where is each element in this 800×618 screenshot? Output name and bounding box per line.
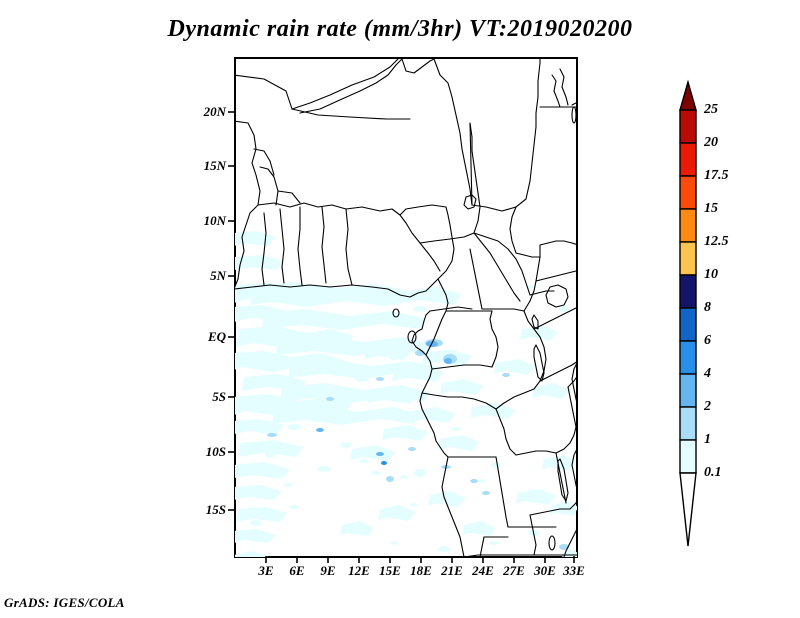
colorbar-label-12p5: 12.5	[704, 234, 729, 250]
x-axis-label-30E: 30E	[534, 563, 556, 579]
colorbar-graphic	[666, 78, 786, 554]
x-axis-label-33E: 33E	[563, 563, 585, 579]
y-axis-label-5S: 5S	[178, 389, 226, 405]
colorbar-label-25: 25	[704, 102, 718, 118]
colorbar: 25 20 17.5 15 12.5 10 8 6 4 2 1 0.1	[666, 78, 786, 554]
colorbar-label-6: 6	[704, 333, 711, 349]
precip-band-0p1-1	[234, 231, 578, 558]
x-axis-label-27E: 27E	[503, 563, 525, 579]
colorbar-band-2-4	[680, 374, 696, 407]
y-axis-label-5N: 5N	[178, 268, 226, 284]
colorbar-cap-top	[680, 82, 696, 110]
colorbar-band-1-2	[680, 407, 696, 440]
colorbar-label-15: 15	[704, 201, 718, 217]
map-borders	[234, 57, 578, 557]
x-axis-label-9E: 9E	[320, 563, 335, 579]
colorbar-label-4: 4	[704, 366, 711, 382]
y-axis-label-EQ: EQ	[178, 329, 226, 345]
x-axis-label-6E: 6E	[289, 563, 304, 579]
colorbar-label-0p1: 0.1	[704, 465, 722, 481]
y-axis-label-20N: 20N	[178, 104, 226, 120]
colorbar-band-17p5-20	[680, 143, 696, 176]
y-axis-label-15S: 15S	[178, 502, 226, 518]
colorbar-label-8: 8	[704, 300, 711, 316]
grads-plot-canvas: Dynamic rain rate (mm/3hr) VT:2019020200	[0, 0, 800, 618]
y-tick-marks	[226, 57, 236, 558]
page-title: Dynamic rain rate (mm/3hr) VT:2019020200	[0, 16, 800, 43]
precip-band-4-6	[381, 461, 387, 465]
colorbar-band-20-25	[680, 110, 696, 143]
colorbar-label-10: 10	[704, 267, 718, 283]
colorbar-band-0p1-1	[680, 440, 696, 473]
x-axis-label-3E: 3E	[258, 563, 273, 579]
y-axis-label-15N: 15N	[178, 158, 226, 174]
colorbar-band-10-12p5	[680, 242, 696, 275]
colorbar-cap-bottom	[680, 473, 696, 546]
colorbar-band-8-10	[680, 275, 696, 308]
x-axis-label-21E: 21E	[441, 563, 463, 579]
colorbar-label-1: 1	[704, 432, 711, 448]
x-axis-label-18E: 18E	[410, 563, 432, 579]
colorbar-band-15-17p5	[680, 176, 696, 209]
map-graphics	[234, 57, 578, 558]
colorbar-label-20: 20	[704, 135, 718, 151]
x-axis-label-12E: 12E	[348, 563, 370, 579]
x-tick-marks	[234, 556, 578, 566]
colorbar-band-4-6	[680, 341, 696, 374]
y-axis-label-10N: 10N	[178, 213, 226, 229]
colorbar-label-17p5: 17.5	[704, 168, 729, 184]
colorbar-label-2: 2	[704, 399, 711, 415]
map-panel	[234, 57, 578, 558]
grads-attribution: GrADS: IGES/COLA	[4, 595, 125, 611]
x-axis-label-24E: 24E	[472, 563, 494, 579]
y-axis-label-10S: 10S	[178, 444, 226, 460]
colorbar-band-6-8	[680, 308, 696, 341]
colorbar-band-12p5-15	[680, 209, 696, 242]
x-axis-label-15E: 15E	[379, 563, 401, 579]
